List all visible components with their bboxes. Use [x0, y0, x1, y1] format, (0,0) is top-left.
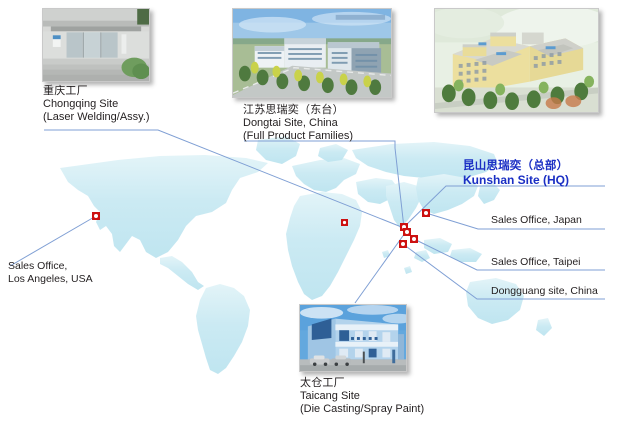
label-sales-office-los-angeles: Sales Office, Los Angeles, USA	[8, 260, 93, 286]
label-taicang-en: Taicang Site	[300, 390, 424, 403]
label-chongqing-detail: (Laser Welding/Assy.)	[43, 111, 150, 124]
label-dongtai-en: Dongtai Site, China	[243, 117, 353, 130]
label-dongtai: 江苏思瑞奕（东台） Dongtai Site, China (Full Prod…	[243, 104, 353, 144]
photo-kunshan-site	[434, 8, 599, 113]
label-taicang-detail: (Die Casting/Spray Paint)	[300, 403, 424, 416]
label-kunshan-cn: 昆山思瑞奕（总部）	[463, 160, 569, 174]
label-sales-office-japan: Sales Office, Japan	[491, 214, 582, 226]
label-sales-office-taipei: Sales Office, Taipei	[491, 256, 581, 268]
label-kunshan-en: Kunshan Site (HQ)	[463, 174, 569, 188]
photo-taicang-site	[299, 304, 407, 372]
label-taicang-cn: 太仓工厂	[300, 377, 424, 390]
label-los-angeles-line1: Sales Office,	[8, 260, 93, 273]
label-dongtai-cn: 江苏思瑞奕（东台）	[243, 104, 353, 117]
label-dongtai-detail: (Full Product Families)	[243, 130, 353, 143]
world-site-map-slide: 重庆工厂 Chongqing Site (Laser Welding/Assy.…	[0, 0, 622, 418]
label-dongguang-site: Dongguang site, China	[491, 285, 598, 297]
photo-dongtai-site	[232, 8, 392, 98]
label-chongqing: 重庆工厂 Chongqing Site (Laser Welding/Assy.…	[43, 85, 150, 125]
label-kunshan-hq: 昆山思瑞奕（总部） Kunshan Site (HQ)	[463, 160, 569, 187]
label-los-angeles-line2: Los Angeles, USA	[8, 273, 93, 286]
label-taicang: 太仓工厂 Taicang Site (Die Casting/Spray Pai…	[300, 377, 424, 417]
photo-chongqing-site	[42, 8, 150, 82]
label-chongqing-cn: 重庆工厂	[43, 85, 150, 98]
label-chongqing-en: Chongqing Site	[43, 98, 150, 111]
